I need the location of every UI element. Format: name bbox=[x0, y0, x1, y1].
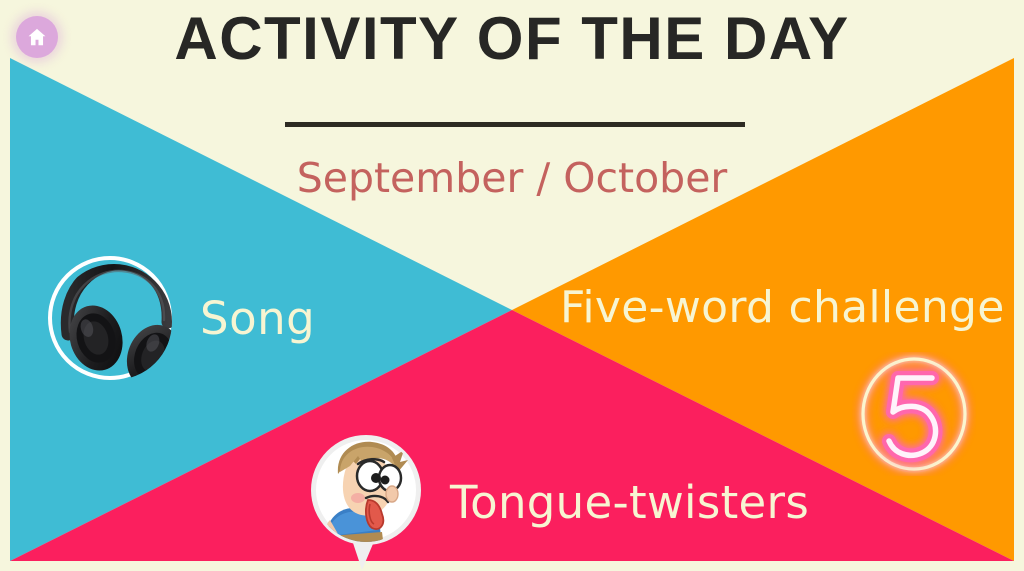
page-subtitle: September / October bbox=[0, 150, 1024, 206]
title-divider bbox=[285, 122, 745, 127]
headphones-badge bbox=[48, 256, 172, 380]
boy-tongue-out-speech-bubble-icon bbox=[304, 432, 428, 571]
home-button[interactable] bbox=[16, 16, 58, 58]
slide-canvas: ACTIVITY OF THE DAY September / October bbox=[0, 0, 1024, 571]
activity-label-song: Song bbox=[200, 292, 315, 345]
activity-label-tongue-twisters: Tongue-twisters bbox=[450, 476, 809, 529]
activity-item-tongue-twisters[interactable]: Tongue-twisters bbox=[304, 432, 809, 571]
speech-bubble-badge bbox=[304, 432, 428, 571]
activity-item-song[interactable]: Song bbox=[48, 256, 315, 380]
home-icon bbox=[26, 26, 48, 48]
activity-item-five-word-challenge[interactable]: Five-word challenge bbox=[560, 282, 1005, 333]
page-title: ACTIVITY OF THE DAY bbox=[0, 6, 1024, 72]
headphones-icon bbox=[52, 260, 176, 384]
number-five-neon-icon bbox=[852, 352, 976, 476]
number-five-badge bbox=[852, 352, 976, 476]
activity-label-five-word-challenge: Five-word challenge bbox=[560, 282, 1005, 333]
